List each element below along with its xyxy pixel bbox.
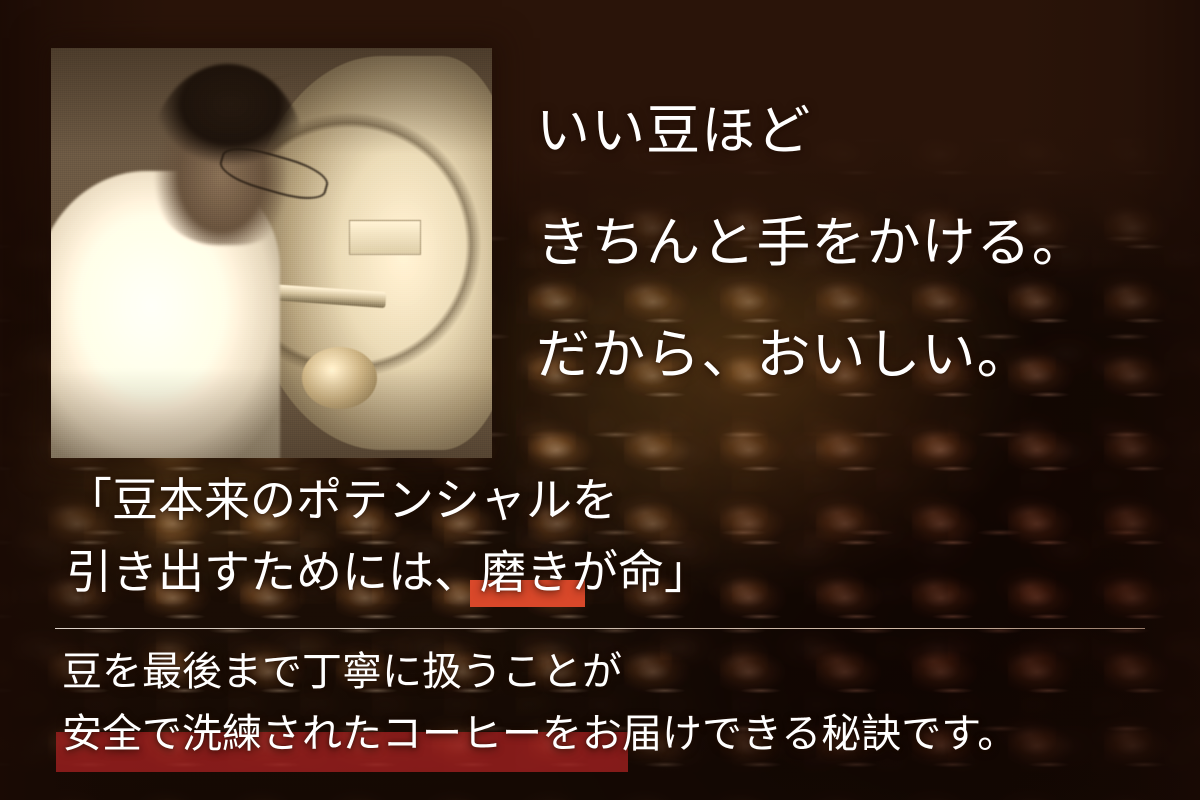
quote-line-1: 「豆本来のポテンシャルを (66, 478, 806, 524)
footer-line-1-text: 豆を最後まで丁寧に扱うことが (62, 649, 622, 694)
footer-line-2: 安全で洗練されたコーヒーをお届けできる秘訣です。 (62, 714, 1172, 754)
footer-line-2-text: 安全で洗練されたコーヒーをお届けできる秘訣です。 (62, 711, 1017, 756)
headline-line-3: だから、おいしい。 (536, 328, 1176, 382)
photo-shading-overlay (51, 48, 492, 458)
coffee-banner: いい豆ほど きちんと手をかける。 だから、おいしい。 「豆本来のポテンシャルを … (0, 0, 1200, 800)
quote-line-2: 引き出すためには、磨きが命」 (66, 550, 806, 596)
footer-block: 豆を最後まで丁寧に扱うことが 安全で洗練されたコーヒーをお届けできる秘訣です。 (62, 652, 1172, 754)
quote-line-2-text: 引き出すためには、磨きが命」 (66, 547, 710, 598)
headline-line-2: きちんと手をかける。 (536, 216, 1176, 270)
quote-line-1-text: 「豆本来のポテンシャルを (66, 475, 618, 526)
headline-block: いい豆ほど きちんと手をかける。 だから、おいしい。 (536, 104, 1176, 382)
divider-line (55, 628, 1145, 629)
roaster-photo (51, 48, 492, 458)
footer-line-1: 豆を最後まで丁寧に扱うことが (62, 652, 1172, 692)
quote-block: 「豆本来のポテンシャルを 引き出すためには、磨きが命」 (66, 478, 806, 596)
headline-line-1: いい豆ほど (536, 104, 1176, 158)
